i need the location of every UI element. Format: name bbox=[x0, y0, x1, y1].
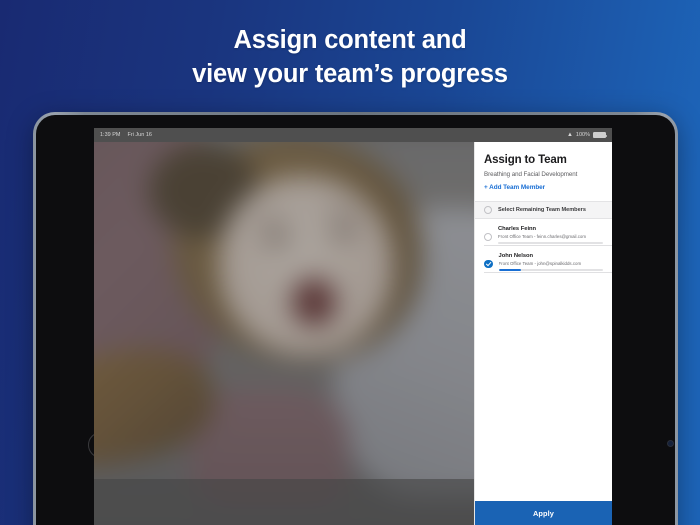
member-info: Charles Feinn Front Office Team - feinn.… bbox=[498, 226, 603, 245]
member-meta: Front Office Team - feinn.charles@gmail.… bbox=[498, 234, 603, 239]
radio-unchecked-icon[interactable] bbox=[484, 206, 492, 214]
member-progress-fill bbox=[499, 269, 522, 271]
radio-unchecked-icon[interactable] bbox=[484, 233, 492, 241]
photo-dim-overlay bbox=[94, 128, 474, 525]
list-item[interactable]: John Nelson Front Office Team - john@spi… bbox=[475, 246, 612, 273]
member-info: John Nelson Front Office Team - john@spi… bbox=[499, 253, 604, 272]
page-title: Assign content and view your team’s prog… bbox=[0, 24, 700, 92]
battery-icon bbox=[593, 132, 606, 138]
select-remaining-members-label: Select Remaining Team Members bbox=[498, 207, 586, 213]
list-item[interactable]: Charles Feinn Front Office Team - feinn.… bbox=[475, 219, 612, 246]
photo-bottom-toolbar bbox=[94, 479, 474, 525]
member-name: John Nelson bbox=[499, 253, 604, 259]
status-bar-right: ▲ 100% bbox=[567, 132, 606, 138]
team-member-list: Charles Feinn Front Office Team - feinn.… bbox=[475, 219, 612, 501]
wifi-icon: ▲ bbox=[567, 132, 573, 138]
headline-line-2: view your team’s progress bbox=[0, 58, 700, 92]
headline-line-1: Assign content and bbox=[234, 26, 467, 54]
apply-button[interactable]: Apply bbox=[475, 501, 612, 525]
member-name: Charles Feinn bbox=[498, 226, 603, 232]
status-bar-left: 1:39 PM Fri Jun 16 bbox=[100, 132, 152, 138]
row-divider bbox=[484, 272, 612, 273]
status-bar: 1:39 PM Fri Jun 16 ▲ 100% bbox=[94, 128, 612, 142]
assign-to-team-panel: Assign to Team Breathing and Facial Deve… bbox=[474, 128, 612, 525]
promo-screenshot: Assign content and view your team’s prog… bbox=[0, 0, 700, 525]
sleeping-child-photo bbox=[94, 128, 474, 525]
radio-checked-icon[interactable] bbox=[484, 260, 493, 269]
panel-title: Assign to Team bbox=[484, 154, 603, 167]
battery-percent: 100% bbox=[576, 132, 590, 138]
panel-subtitle: Breathing and Facial Development bbox=[484, 171, 603, 178]
member-progress-bar bbox=[498, 242, 603, 244]
front-camera-icon bbox=[667, 440, 674, 447]
member-progress-bar bbox=[499, 269, 604, 271]
add-team-member-link[interactable]: + Add Team Member bbox=[484, 184, 603, 191]
member-meta: Front Office Team - john@spinalkidds.com bbox=[499, 261, 604, 266]
status-date: Fri Jun 16 bbox=[127, 132, 151, 138]
tablet-screen: 1:39 PM Fri Jun 16 ▲ 100% bbox=[94, 128, 612, 525]
status-time: 1:39 PM bbox=[100, 132, 120, 138]
select-remaining-members-row[interactable]: Select Remaining Team Members bbox=[475, 201, 612, 219]
